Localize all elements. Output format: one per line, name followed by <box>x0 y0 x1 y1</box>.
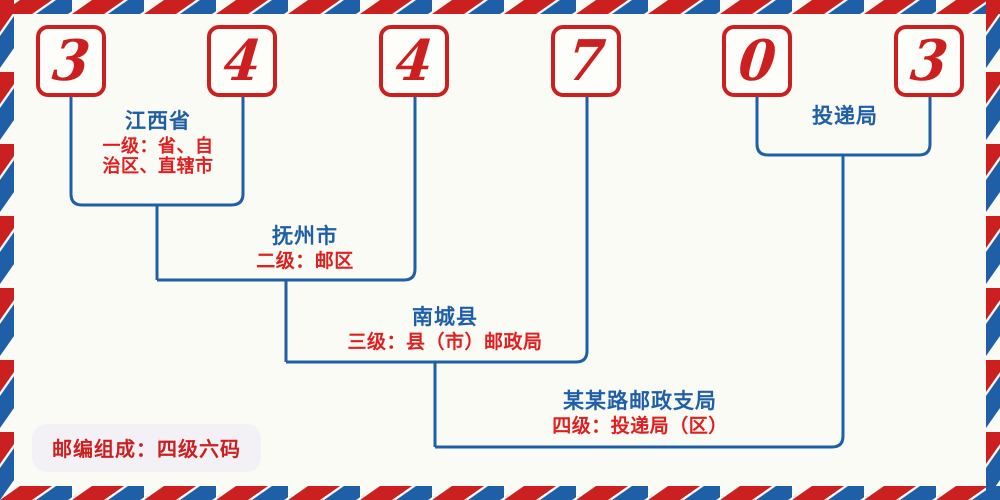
postcode-digit-2[interactable]: 4 <box>207 25 277 97</box>
digit-glyph: 7 <box>565 33 607 89</box>
airmail-border-top <box>0 0 1000 14</box>
level-1-name: 江西省 <box>78 110 238 134</box>
digit-glyph: 3 <box>50 33 92 89</box>
level-2-name: 抚州市 <box>180 225 430 249</box>
level-1-desc-line2: 治区、直辖市 <box>78 156 238 176</box>
level-1-group: 江西省 一级：省、自 治区、直辖市 <box>78 110 238 176</box>
level-3-desc: 三级：县（市）邮政局 <box>300 332 590 353</box>
postcode-digit-6[interactable]: 3 <box>894 25 964 97</box>
postcode-digit-3[interactable]: 4 <box>379 25 449 97</box>
digit-glyph: 3 <box>908 33 950 89</box>
level-3-group: 南城县 三级：县（市）邮政局 <box>300 306 590 353</box>
postcode-digit-1[interactable]: 3 <box>36 25 106 97</box>
level-1-desc-line1: 一级：省、自 <box>103 136 214 156</box>
level-3-name: 南城县 <box>300 306 590 330</box>
postcode-digit-4[interactable]: 7 <box>551 25 621 97</box>
delivery-office-group: 投递局 <box>765 105 925 129</box>
postcode-diagram: 3 4 4 7 0 3 投递局 江西省 一级：省、自 治区、直辖市 抚州市 二级… <box>0 0 1000 500</box>
airmail-border-bottom <box>0 486 1000 500</box>
level-2-group: 抚州市 二级：邮区 <box>180 225 430 272</box>
airmail-border-left <box>0 0 14 500</box>
airmail-border-right <box>986 0 1000 500</box>
postcode-digit-5[interactable]: 0 <box>722 25 792 97</box>
level-4-group: 某某路邮政支局 四级：投递局（区） <box>445 390 835 437</box>
digit-glyph: 4 <box>393 33 435 89</box>
level-4-name: 某某路邮政支局 <box>445 390 835 414</box>
digit-glyph: 4 <box>221 33 263 89</box>
digit-glyph: 0 <box>736 33 778 89</box>
delivery-office-label: 投递局 <box>765 105 925 129</box>
postcode-composition-chip: 邮编组成：四级六码 <box>32 424 261 472</box>
level-1-desc: 一级：省、自 治区、直辖市 <box>78 136 238 176</box>
level-4-desc: 四级：投递局（区） <box>445 416 835 437</box>
level-2-desc: 二级：邮区 <box>180 251 430 272</box>
